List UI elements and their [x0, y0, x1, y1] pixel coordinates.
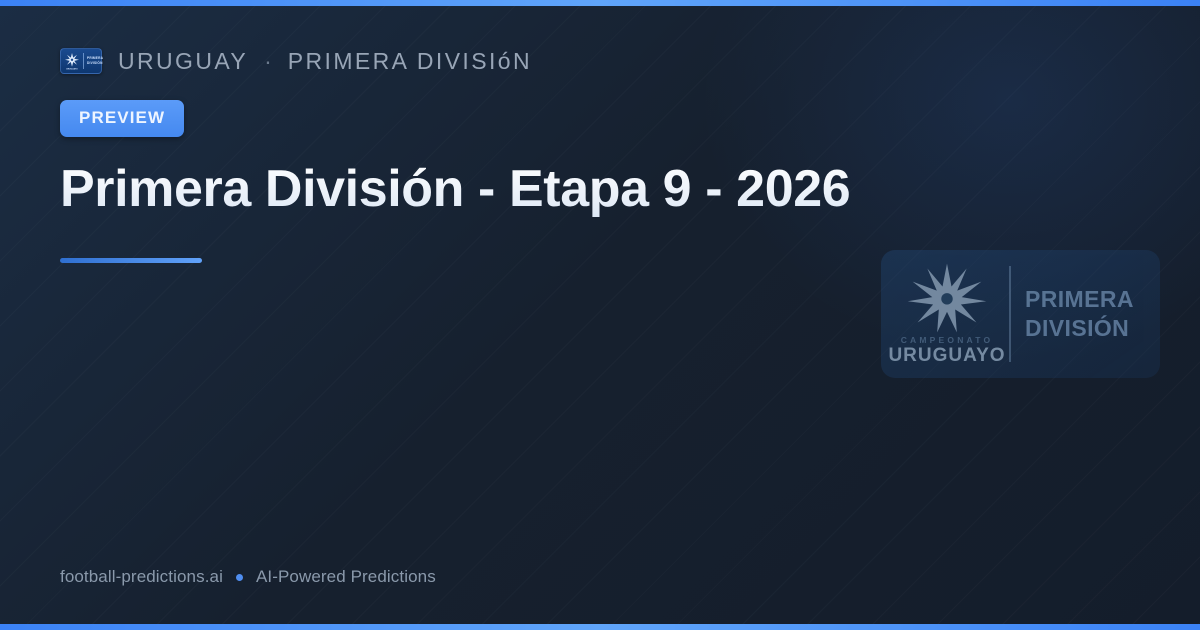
watermark-right: PRIMERA DIVISIÓN	[1025, 285, 1134, 342]
bottom-accent-bar	[0, 624, 1200, 630]
watermark-uruguayo-text: URUGUAYO	[888, 346, 1005, 366]
watermark-division-text: DIVISIÓN	[1025, 314, 1134, 343]
footer: football-predictions.ai AI-Powered Predi…	[60, 567, 436, 587]
breadcrumb: URUGUAYO PRIMERA DIVISIÓN URUGUAY · PRIM…	[60, 40, 1140, 82]
primera-division-star-icon: URUGUAYO	[64, 51, 80, 71]
footer-separator-dot	[236, 574, 243, 581]
breadcrumb-separator: ·	[264, 48, 272, 75]
card-content: URUGUAYO PRIMERA DIVISIÓN URUGUAY · PRIM…	[0, 0, 1200, 263]
badge-line-2: DIVISIÓN	[87, 62, 103, 66]
page-title: Primera División - Etapa 9 - 2026	[60, 159, 1140, 219]
status-badge-row: PREVIEW	[60, 100, 1140, 137]
footer-site-name[interactable]: football-predictions.ai	[60, 567, 223, 587]
badge-line-1: PRIMERA	[87, 57, 103, 61]
watermark-primera-text: PRIMERA	[1025, 285, 1134, 314]
badge-text: PRIMERA DIVISIÓN	[87, 57, 103, 65]
watermark-campeonato-text: CAMPEONATO	[901, 336, 994, 345]
badge-divider	[83, 53, 84, 69]
breadcrumb-country[interactable]: URUGUAY	[118, 48, 248, 75]
league-badge[interactable]: URUGUAYO PRIMERA DIVISIÓN	[60, 48, 102, 74]
breadcrumb-competition[interactable]: PRIMERA DIVISIóN	[288, 48, 532, 75]
footer-tagline: AI-Powered Predictions	[256, 567, 436, 587]
status-badge: PREVIEW	[60, 100, 184, 137]
watermark-divider	[1009, 266, 1011, 362]
title-accent-underline	[60, 258, 202, 263]
svg-text:URUGUAYO: URUGUAYO	[66, 68, 78, 71]
campeonato-uruguayo-star-icon	[905, 262, 989, 334]
watermark-left: CAMPEONATO URUGUAYO	[891, 262, 1003, 366]
competition-watermark-logo: CAMPEONATO URUGUAYO PRIMERA DIVISIÓN	[881, 250, 1160, 378]
preview-card: URUGUAYO PRIMERA DIVISIÓN URUGUAY · PRIM…	[0, 0, 1200, 630]
